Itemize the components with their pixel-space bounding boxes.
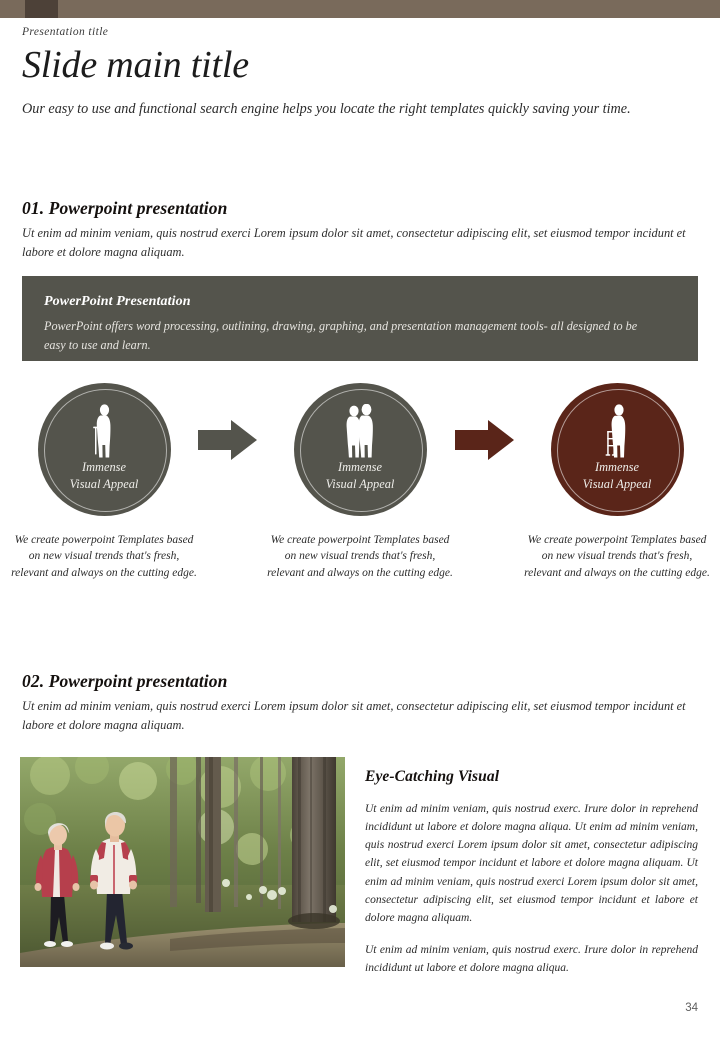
section-02-body: Ut enim ad minim veniam, quis nostrud ex… [22,697,698,735]
section-02: 02. Powerpoint presentation Ut enim ad m… [22,671,698,735]
eye-catching-visual-block: Eye-Catching Visual Ut enim ad minim ven… [365,768,698,977]
right-column-paragraph-2: Ut enim ad minim veniam, quis nostrud ex… [365,941,698,977]
process-circle-3-label: ImmenseVisual Appeal [551,459,684,492]
process-step-2-caption: We create powerpoint Templates based on … [266,532,454,581]
process-circle-1[interactable]: ImmenseVisual Appeal [38,383,171,516]
process-circles-row: ImmenseVisual Appeal We create powerpoin… [0,383,720,613]
process-circle-1-label: ImmenseVisual Appeal [38,459,171,492]
section-01-heading: 01. Powerpoint presentation [22,198,698,219]
page-number: 34 [685,1002,698,1014]
arrow-right-maroon-icon [455,418,515,462]
process-step-3-caption: We create powerpoint Templates based on … [523,532,711,581]
arrow-right-gray-icon [198,418,258,462]
person-with-walker-icon [551,400,684,462]
callout-title: PowerPoint Presentation [44,294,676,310]
person-with-cane-icon [38,400,171,462]
section-01-body: Ut enim ad minim veniam, quis nostrud ex… [22,224,698,262]
slide-subtitle: Our easy to use and functional search en… [22,99,694,120]
process-circle-2[interactable]: ImmenseVisual Appeal [294,383,427,516]
slide-canvas: Presentation title Slide main title Our … [0,0,720,1040]
process-step-1-caption: We create powerpoint Templates based on … [10,532,198,581]
slide-header: Presentation title Slide main title Our … [22,26,698,120]
presentation-title-eyebrow: Presentation title [22,26,698,38]
process-step-2[interactable]: ImmenseVisual Appeal We create powerpoin… [266,383,454,581]
callout-band: PowerPoint Presentation PowerPoint offer… [22,276,698,361]
right-column-title: Eye-Catching Visual [365,768,698,786]
top-decor-bar [0,0,720,18]
process-step-3[interactable]: ImmenseVisual Appeal We create powerpoin… [523,383,711,581]
section-02-heading: 02. Powerpoint presentation [22,671,698,692]
forest-walk-photo [20,757,345,967]
process-circle-3[interactable]: ImmenseVisual Appeal [551,383,684,516]
callout-text: PowerPoint offers word processing, outli… [44,317,644,356]
section-01: 01. Powerpoint presentation Ut enim ad m… [22,198,698,262]
elderly-couple-icon [294,400,427,462]
right-column-paragraph-1: Ut enim ad minim veniam, quis nostrud ex… [365,800,698,927]
process-step-1[interactable]: ImmenseVisual Appeal We create powerpoin… [10,383,198,581]
page-title: Slide main title [22,44,698,87]
top-decor-bar-accent [25,0,58,18]
process-circle-2-label: ImmenseVisual Appeal [294,459,427,492]
